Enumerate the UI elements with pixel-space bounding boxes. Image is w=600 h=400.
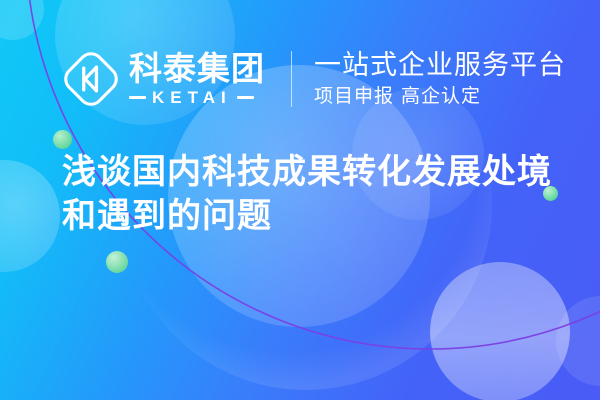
slogan-primary: 一站式企业服务平台 (314, 50, 566, 82)
brand-name-en-row: KETAI (129, 89, 265, 106)
decor-dot-green-middle (106, 251, 128, 273)
slogan-block: 一站式企业服务平台 项目申报 高企认定 (314, 50, 566, 109)
page-title-line-2: 和遇到的问题 (62, 194, 552, 238)
page-title-line-1: 浅谈国内科技成果转化发展处境 (62, 150, 552, 194)
decor-dot-green-left (53, 130, 72, 149)
brand-rule-right-icon (237, 96, 254, 99)
decor-circle-left-edge (0, 160, 60, 272)
decor-circle-bottom-right (430, 262, 570, 400)
promo-banner: 科泰集团 KETAI 一站式企业服务平台 项目申报 高企认定 浅谈国内科技成果转… (0, 0, 600, 400)
slogan-secondary: 项目申报 高企认定 (314, 83, 566, 109)
brand-logo-text: 科泰集团 KETAI (129, 52, 265, 106)
banner-header: 科泰集团 KETAI 一站式企业服务平台 项目申报 高企认定 (62, 40, 566, 118)
brand-rule-left-icon (129, 96, 146, 99)
brand-name-cn: 科泰集团 (129, 52, 265, 86)
brand-logo[interactable]: 科泰集团 KETAI (62, 50, 265, 108)
brand-name-en: KETAI (152, 89, 232, 106)
decor-circle-right-edge (556, 296, 600, 386)
ketai-diamond-k-mark-icon (62, 50, 120, 108)
page-title: 浅谈国内科技成果转化发展处境 和遇到的问题 (62, 150, 552, 238)
decor-circle-top-left-small (0, 0, 44, 40)
header-divider (291, 51, 292, 107)
